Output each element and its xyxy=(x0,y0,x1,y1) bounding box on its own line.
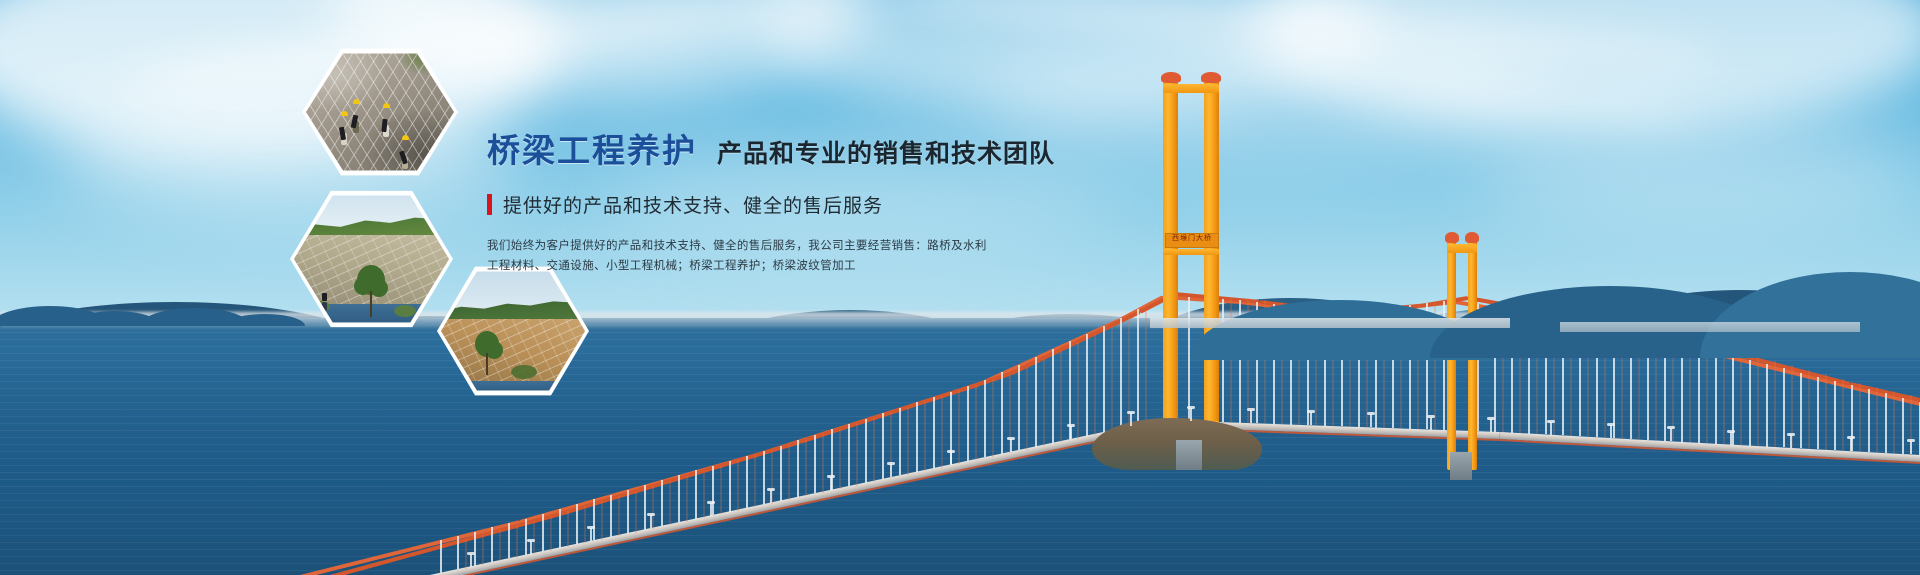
bridge-hanger-rear xyxy=(1893,391,1895,454)
bridge-hanger-rear xyxy=(567,511,569,547)
bridge-hanger-rear xyxy=(516,525,518,557)
bridge-hanger xyxy=(440,540,442,573)
bridge-hanger-rear xyxy=(618,496,620,536)
tree xyxy=(354,265,388,317)
description-line: 工程材料、交通设施、小型工程机械；桥梁工程养护；桥梁波纹管加工 xyxy=(487,255,1107,275)
deck-lamp xyxy=(650,515,652,528)
tower-pier xyxy=(1176,440,1202,470)
deck-lamp xyxy=(590,528,592,541)
bridge-hanger xyxy=(1681,344,1683,442)
bridge-hanger xyxy=(610,495,612,537)
bridge-hanger xyxy=(882,413,884,479)
bridge-hanger xyxy=(576,504,578,544)
deck-lamp xyxy=(1670,428,1672,441)
bridge-hanger-rear xyxy=(635,491,637,533)
deck-lamp xyxy=(710,503,712,516)
hero-banner: 西堠门大桥西堠门大桥 xyxy=(0,0,1920,575)
bridge-hanger xyxy=(899,408,901,476)
bridge-hanger xyxy=(1035,357,1037,447)
bridge-hanger xyxy=(1052,349,1054,443)
bridge-hanger-rear xyxy=(1723,348,1725,444)
bridge-hanger-rear xyxy=(1859,383,1861,451)
bridge-hanger xyxy=(1001,372,1003,453)
bridge-hanger-rear xyxy=(482,535,484,565)
bridge-hanger-rear xyxy=(1808,370,1810,449)
bridge-hanger xyxy=(1120,318,1122,428)
deck-lamp xyxy=(470,554,472,567)
tower-cap xyxy=(1201,72,1221,83)
bridge-hanger xyxy=(1885,393,1887,453)
deck-lamp xyxy=(1070,426,1072,439)
tower-cap xyxy=(1161,72,1181,83)
bridge-hanger-rear xyxy=(958,390,960,463)
deck-lamp xyxy=(1250,410,1252,423)
bridge-hanger-rear xyxy=(1060,351,1062,443)
bridge-hanger-rear xyxy=(584,506,586,543)
town-strip xyxy=(1150,318,1510,328)
bridge-hanger xyxy=(814,435,816,494)
deck-lamp xyxy=(530,541,532,554)
bridge-hanger xyxy=(1800,373,1802,449)
bridge-hanger xyxy=(1783,368,1785,447)
bridge-hanger xyxy=(1086,334,1088,436)
bridge-hanger xyxy=(1902,398,1904,454)
bridge-hanger-rear xyxy=(1026,367,1028,450)
bridge-hanger xyxy=(1749,360,1751,446)
bridge-hanger-rear xyxy=(924,401,926,471)
hex-photo-hillside-mesh-slope xyxy=(290,188,453,330)
bridge-hanger-rear xyxy=(1774,361,1776,447)
deck-lamp xyxy=(1430,417,1432,430)
tower-plaque: 西堠门大桥 xyxy=(1165,233,1219,248)
bridge-hanger xyxy=(1834,381,1836,450)
bridge-hanger xyxy=(797,440,799,497)
safety-net-mesh xyxy=(306,51,454,173)
bridge-hanger xyxy=(1018,365,1020,451)
bridge-hanger-rear xyxy=(1043,359,1045,446)
bridge-hanger xyxy=(491,527,493,562)
suspension-bridge: 西堠门大桥西堠门大桥 xyxy=(0,0,1920,575)
deck-lamp xyxy=(950,452,952,465)
deck-lamp xyxy=(1130,413,1132,426)
bridge-hanger-rear xyxy=(805,440,807,496)
bridge-hanger xyxy=(678,475,680,522)
bridge-hanger xyxy=(457,536,459,570)
deck-lamp xyxy=(1490,419,1492,432)
bridge-hanger xyxy=(542,514,544,551)
deck-lamp xyxy=(1730,432,1732,445)
deck-lamp xyxy=(890,464,892,477)
bridge-hanger-rear xyxy=(1111,326,1113,431)
bridge-hanger-rear xyxy=(1094,334,1096,435)
bridge-hanger xyxy=(695,470,697,518)
bridge-hanger xyxy=(508,523,510,558)
bridge-hanger xyxy=(933,397,935,468)
bridge-hanger xyxy=(865,419,867,483)
hex-photo-roadside-slope-protection xyxy=(437,264,589,398)
page-title-secondary: 产品和专业的销售和技术团队 xyxy=(717,134,1055,170)
bridge-hanger xyxy=(1868,389,1870,452)
bridge-hanger xyxy=(780,446,782,501)
tower-leg xyxy=(1163,80,1178,455)
bridge-hanger-rear xyxy=(856,423,858,485)
tower-cap xyxy=(1445,232,1459,243)
bridge-hanger xyxy=(916,402,918,471)
subtitle-row: 提供好的产品和技术支持、健全的售后服务 xyxy=(487,191,1107,218)
tower-leg xyxy=(1204,80,1219,455)
title-row: 桥梁工程养护 产品和专业的销售和技术团队 xyxy=(487,124,1107,172)
tower-crossbeam xyxy=(1163,249,1219,255)
bridge-deck xyxy=(1500,432,1920,462)
bridge-hanger-rear xyxy=(720,466,722,515)
bridge-hanger-rear xyxy=(550,516,552,550)
town-strip xyxy=(1560,322,1860,332)
bridge-hanger xyxy=(593,499,595,540)
bridge-hanger-rear xyxy=(907,407,909,475)
bridge-hanger xyxy=(1137,309,1139,425)
bridge-hanger-rear xyxy=(1757,356,1759,445)
bridge-hanger-rear xyxy=(822,434,824,492)
tower-pier xyxy=(1450,452,1472,480)
tower-crossbeam xyxy=(1447,244,1477,253)
background-hill xyxy=(1700,272,1920,358)
deck-lamp xyxy=(830,477,832,490)
bridge-hanger-rear xyxy=(873,418,875,482)
bridge-hanger-rear xyxy=(1706,344,1708,443)
bridge-hanger-rear xyxy=(1740,352,1742,445)
bridge-hanger-rear xyxy=(1145,310,1147,424)
bridge-hanger xyxy=(967,386,969,461)
hex-photo-rock-slope-mesh-installation xyxy=(302,46,458,178)
bridge-hanger-rear xyxy=(839,429,841,489)
bridge-hanger xyxy=(474,532,476,566)
bridge-hanger-rear xyxy=(1876,387,1878,453)
bridge-hanger-rear xyxy=(686,476,688,522)
bridge-hanger-rear xyxy=(992,379,994,456)
bridge-hanger-rear xyxy=(601,501,603,540)
tree xyxy=(473,331,503,375)
bridge-hanger xyxy=(661,480,663,526)
bridge-hanger xyxy=(1817,377,1819,450)
bridge-hanger-rear xyxy=(737,460,739,510)
bridge-hanger-rear xyxy=(1825,374,1827,449)
page-subtitle: 提供好的产品和技术支持、健全的售后服务 xyxy=(503,191,883,218)
photo-hillside-slope xyxy=(294,193,449,325)
bridge-hanger-rear xyxy=(1842,379,1844,451)
bridge-hanger-rear xyxy=(703,471,705,518)
bridge-hanger xyxy=(763,451,765,504)
bridge-hanger-rear xyxy=(652,486,654,529)
deck-lamp xyxy=(770,490,772,503)
tower-plaque-text: 西堠门大桥 xyxy=(1166,234,1218,244)
deck-lamp xyxy=(1550,422,1552,435)
bridge-hanger xyxy=(848,424,850,486)
deck-lamp xyxy=(1310,412,1312,425)
deck-lamp xyxy=(1790,435,1792,448)
banner-text-block: 桥梁工程养护 产品和专业的销售和技术团队 提供好的产品和技术支持、健全的售后服务… xyxy=(487,124,1107,275)
bridge-hanger xyxy=(729,461,731,512)
deck-lamp xyxy=(1850,438,1852,451)
bridge-hanger xyxy=(712,466,714,516)
bridge-hanger xyxy=(984,380,986,457)
bridge-hanger-rear xyxy=(788,445,790,500)
bridge-hanger xyxy=(644,485,646,530)
bridge-hanger xyxy=(1698,348,1700,443)
bridge-hanger-rear xyxy=(669,481,671,526)
bridge-hanger xyxy=(1766,364,1768,446)
bridge-hanger xyxy=(559,509,561,548)
accent-bar xyxy=(487,194,492,215)
bridge-hanger xyxy=(1715,352,1717,444)
deck-lamp xyxy=(1010,439,1012,452)
deck-lamp xyxy=(1190,408,1192,421)
banner-description: 我们始终为客户提供好的产品和技术支持、健全的售后服务，我公司主要经营销售：路桥及… xyxy=(487,235,1107,275)
bridge-hanger xyxy=(627,490,629,533)
bridge-hanger xyxy=(746,456,748,508)
deck-lamp xyxy=(1370,414,1372,427)
tower-crossbeam xyxy=(1163,84,1219,93)
bridge-hanger-rear xyxy=(975,385,977,460)
tower-cap xyxy=(1465,232,1479,243)
bridge-hanger-rear xyxy=(499,530,501,561)
bridge-hanger xyxy=(1103,326,1105,432)
page-title: 桥梁工程养护 xyxy=(487,124,697,172)
deck-lamp xyxy=(1610,425,1612,438)
bridge-hanger xyxy=(525,519,527,555)
bridge-hanger-rear xyxy=(941,396,943,468)
photo-roadside-slope xyxy=(441,269,585,393)
bridge-hanger-rear xyxy=(1077,342,1079,438)
deck-lamp xyxy=(1910,441,1912,454)
bridge-hanger-rear xyxy=(754,455,756,507)
description-line: 我们始终为客户提供好的产品和技术支持、健全的售后服务，我公司主要经营销售：路桥及… xyxy=(487,235,1107,255)
bridge-hanger-rear xyxy=(533,521,535,554)
